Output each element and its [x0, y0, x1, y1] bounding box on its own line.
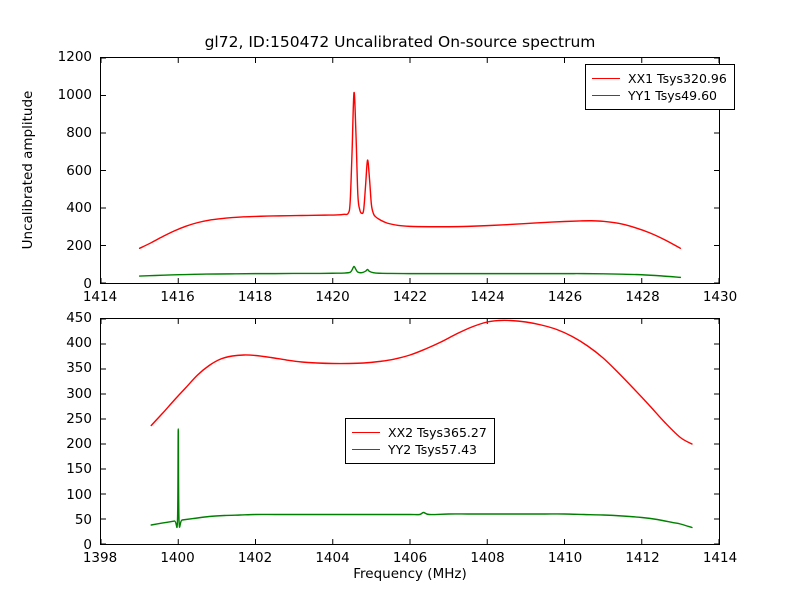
x-tick-label: 1404	[315, 550, 349, 566]
x-tick-label: 1416	[160, 289, 194, 305]
legend-label: YY1 Tsys49.60	[628, 88, 717, 103]
x-tick-label: 1406	[393, 550, 427, 566]
y-tick-label: 800	[4, 125, 92, 141]
legend-entry: YY1 Tsys49.60	[592, 87, 727, 104]
x-tick-label: 1414	[83, 289, 117, 305]
y-tick-label: 0	[4, 276, 92, 292]
x-tick-label: 1424	[470, 289, 504, 305]
y-tick-label: 50	[4, 512, 92, 528]
line-swatch-icon	[352, 432, 380, 433]
line-swatch-icon	[592, 78, 620, 79]
x-tick-label: 1410	[548, 550, 582, 566]
page-title: gl72, ID:150472 Uncalibrated On-source s…	[0, 33, 800, 51]
spectrum-trace	[140, 266, 681, 277]
x-tick-label: 1408	[470, 550, 504, 566]
y-tick-label: 300	[4, 386, 92, 402]
spectrum-trace	[140, 92, 681, 248]
y-tick-label: 200	[4, 436, 92, 452]
legend-entry: XX1 Tsys320.96	[592, 70, 727, 87]
figure-canvas: gl72, ID:150472 Uncalibrated On-source s…	[0, 0, 800, 600]
y-tick-label: 350	[4, 360, 92, 376]
y-tick-label: 250	[4, 411, 92, 427]
y-tick-label: 400	[4, 335, 92, 351]
legend-entry: XX2 Tsys365.27	[352, 424, 487, 441]
x-tick-label: 1426	[548, 289, 582, 305]
line-swatch-icon	[592, 95, 620, 96]
legend-label: XX1 Tsys320.96	[628, 71, 727, 86]
y-tick-label: 1200	[4, 49, 92, 65]
x-tick-label: 1422	[393, 289, 427, 305]
y-tick-label: 100	[4, 487, 92, 503]
legend-label: XX2 Tsys365.27	[388, 425, 487, 440]
x-axis-label-bottom: Frequency (MHz)	[353, 566, 466, 582]
legend-top[interactable]: XX1 Tsys320.96 YY1 Tsys49.60	[585, 64, 735, 110]
line-swatch-icon	[352, 449, 380, 450]
y-tick-label: 400	[4, 200, 92, 216]
y-tick-label: 600	[4, 163, 92, 179]
legend-entry: YY2 Tsys57.43	[352, 441, 487, 458]
legend-bottom[interactable]: XX2 Tsys365.27 YY2 Tsys57.43	[345, 418, 495, 464]
x-tick-label: 1412	[625, 550, 659, 566]
legend-label: YY2 Tsys57.43	[388, 442, 477, 457]
y-tick-label: 1000	[4, 87, 92, 103]
y-tick-label: 0	[4, 537, 92, 553]
y-tick-label: 200	[4, 238, 92, 254]
x-tick-label: 1428	[625, 289, 659, 305]
x-tick-label: 1414	[703, 550, 737, 566]
x-tick-label: 1402	[238, 550, 272, 566]
x-tick-label: 1400	[160, 550, 194, 566]
x-tick-label: 1418	[238, 289, 272, 305]
y-tick-label: 450	[4, 310, 92, 326]
x-tick-label: 1430	[703, 289, 737, 305]
x-tick-label: 1398	[83, 550, 117, 566]
x-tick-label: 1420	[315, 289, 349, 305]
y-tick-label: 150	[4, 461, 92, 477]
